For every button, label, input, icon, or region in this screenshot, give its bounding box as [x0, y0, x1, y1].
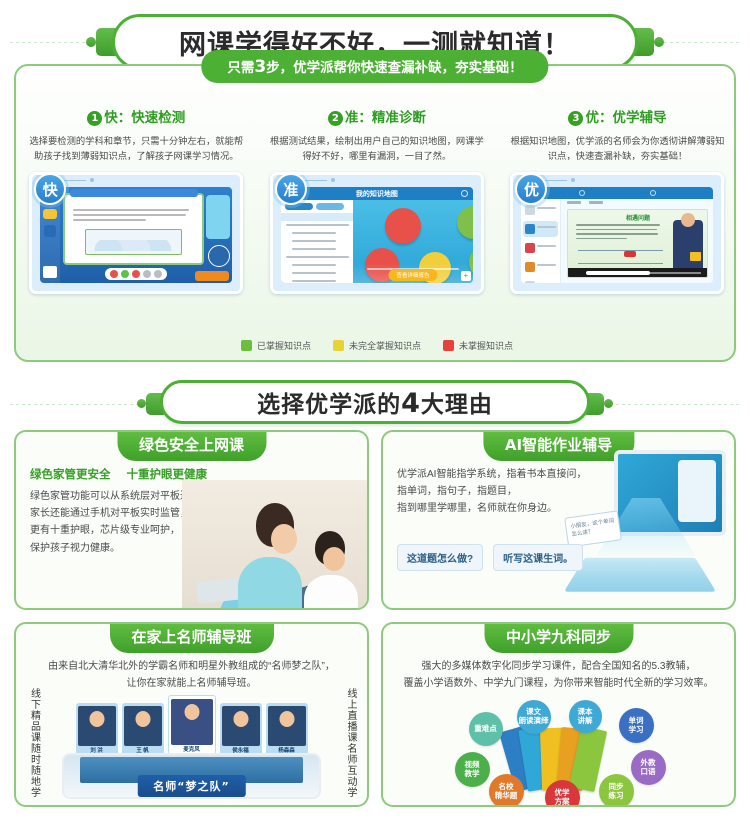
- video-player[interactable]: 相遇问题: [567, 209, 708, 278]
- step-number-2: 2: [328, 111, 343, 126]
- three-step-section: 只需3步，优学派帮你快速查漏补缺，夯实基础！ 1快：快速检测 选择要检测的学科和…: [14, 64, 736, 362]
- quiz-illustration: [85, 229, 182, 255]
- device-col-1: 快: [16, 172, 257, 294]
- step-item-3: 3优：优学辅导 根据知识地图，优学派的名师会为你透彻讲解薄弱知识点，快速查漏补缺…: [497, 106, 738, 165]
- legend-item-unmastered: 未掌握知识点: [443, 339, 513, 352]
- quiz-screen-title: [70, 189, 198, 197]
- legend-swatch-yellow: [333, 340, 344, 351]
- card4-subject-wheel: 重难点 课文 朗读演绎 课本 讲解 单词 学习 视频 教学 外教 口语 名校 精…: [383, 700, 734, 804]
- tablet-mockup-knowledge-map: 准 我的知识地图: [270, 172, 484, 294]
- card1-sub-b: 十重护眼更健康: [127, 467, 208, 481]
- brand-tag: [690, 252, 701, 261]
- card3-line-2: 让你在家就能上名师辅导班。: [30, 675, 353, 692]
- view-report-button[interactable]: 查看详细报告: [388, 269, 437, 281]
- subject-bubble[interactable]: 外教 口语: [631, 750, 666, 785]
- subject-bubble[interactable]: 视频 教学: [455, 752, 490, 787]
- legend-label-partial: 未完全掌握知识点: [349, 339, 421, 352]
- card4-title: 中小学九科同步: [484, 622, 633, 653]
- knowledge-map-screen: 我的知识地图: [281, 187, 473, 283]
- card4-line-2: 覆盖小学语数外、中学九门课程，为你带来智能时代全新的学习效率。: [397, 675, 720, 692]
- banner-dot-right: [654, 37, 664, 47]
- quiz-question-text: [73, 209, 194, 224]
- subtitle-post: 步，优学派帮你快速查漏补缺，夯实基础！: [266, 60, 523, 76]
- map-bubble[interactable]: [385, 208, 421, 244]
- teacher-avatar: [78, 706, 116, 746]
- projected-keyboard: [564, 558, 716, 592]
- card4-body: 强大的多媒体数字化同步学习课件，配合全国知名的5.3教辅， 覆盖小学语数外、中学…: [397, 658, 720, 692]
- card3-title: 在家上名师辅导班: [109, 622, 273, 653]
- card1-title: 绿色安全上网课: [117, 430, 266, 461]
- chapter-sidebar: [281, 200, 353, 283]
- reasons-title: 选择优学派的4大理由: [257, 385, 493, 419]
- card3-phone-illustration: 刘 洪 北大学霸名师 王 帆 北大英语精英名师 麦克风 英语外教: [62, 695, 321, 799]
- reasons-title-pill: 选择优学派的4大理由: [160, 380, 590, 424]
- step-title-3: 优：优学辅导: [585, 110, 666, 126]
- quiz-screen: [40, 187, 232, 283]
- dream-team-ribbon: 名师“梦之队”: [137, 775, 245, 797]
- card1-sub-a: 绿色家管更安全: [30, 467, 111, 481]
- step-item-1: 1快：快速检测 选择要检测的学科和章节，只需十分钟左右，就能帮助孩子找到薄弱知识…: [16, 106, 257, 165]
- reason-card-ai-homework: AI智能作业辅导 优学派AI智能指学系统，指着书本直接问， 指单词，指句子，指题…: [381, 430, 736, 610]
- card4-line-1: 强大的多媒体数字化同步学习课件，配合全国知名的5.3教辅，: [397, 658, 720, 675]
- subject-bubble[interactable]: 课本 讲解: [569, 700, 602, 733]
- knowledge-legend: 已掌握知识点 未完全掌握知识点 未掌握知识点: [16, 339, 738, 352]
- map-bubble[interactable]: [457, 206, 473, 239]
- card3-body: 由来自北大清华北外的学霸名师和明星外教组成的“名师梦之队”， 让你在家就能上名师…: [30, 658, 353, 692]
- step-heading-1: 1快：快速检测: [26, 106, 247, 126]
- nav-item[interactable]: [523, 278, 558, 283]
- step-desc-3: 根据知识地图，优学派的名师会为你透彻讲解薄弱知识点，快速查漏补缺，夯实基础！: [507, 134, 728, 165]
- step-title-1: 快：快速检测: [104, 110, 185, 126]
- sidebar-active-row: [281, 213, 353, 221]
- subtitle-pill: 只需3步，优学派帮你快速查漏补缺，夯实基础！: [201, 50, 548, 83]
- coin-icon: [43, 209, 57, 219]
- lesson-diagram: [578, 250, 663, 264]
- subtitle-pre: 只需: [227, 60, 254, 76]
- teacher-avatar: [222, 706, 260, 746]
- lesson-title: 相遇问题: [626, 213, 650, 222]
- device-col-3: 优 相遇问题: [497, 172, 738, 294]
- step-item-2: 2准：精准诊断 根据测试结果，绘制出用户自己的知识地图，网课学得好不好，哪里有漏…: [257, 106, 498, 165]
- plus-icon[interactable]: +: [461, 271, 471, 281]
- legend-label-mastered: 已掌握知识点: [257, 339, 311, 352]
- legend-label-unmastered: 未掌握知识点: [459, 339, 513, 352]
- device-mockups: 快: [16, 172, 738, 294]
- card2-device-illustration: 小朋友，这个单词怎么读？: [570, 442, 730, 602]
- step-title-2: 准：精准诊断: [345, 110, 426, 126]
- nav-item-active[interactable]: [523, 221, 558, 237]
- legend-item-partial: 未完全掌握知识点: [333, 339, 421, 352]
- legend-swatch-red: [443, 340, 454, 351]
- teacher-avatar: [124, 706, 162, 746]
- nav-item[interactable]: [523, 259, 558, 275]
- lesson-text: [576, 224, 667, 242]
- video-lesson-screen: 相遇问题: [521, 187, 713, 283]
- banner2-dot-right: [604, 399, 613, 408]
- card1-photo-mother-child: [182, 480, 367, 608]
- subject-bubble[interactable]: 重难点: [469, 712, 503, 746]
- quiz-card: [63, 193, 204, 265]
- reason-card-nine-subjects: 中小学九科同步 强大的多媒体数字化同步学习课件，配合全国知名的5.3教辅， 覆盖…: [381, 622, 736, 807]
- product-page: 网课学得好不好，一测就知道！ 只需3步，优学派帮你快速查漏补缺，夯实基础！ 1快…: [0, 0, 750, 829]
- card2-speech-bubbles: 这道题怎么做? 听写这课生词。: [397, 544, 583, 571]
- step-desc-2: 根据测试结果，绘制出用户自己的知识地图，网课学得好不好，哪里有漏洞，一目了然。: [267, 134, 488, 165]
- reason-cards-grid: 绿色安全上网课 绿色家管更安全十重护眼更健康 绿色家管功能可以从系统层对平板进行…: [14, 430, 736, 815]
- speech-bubble-1[interactable]: 这道题怎么做?: [397, 544, 483, 571]
- quiz-progress-dots: [105, 268, 167, 280]
- chapter-list: [286, 224, 349, 283]
- step-badge-2: 准: [275, 173, 307, 205]
- device-col-2: 准 我的知识地图: [257, 172, 498, 294]
- card3-vertical-right: 线上直播课名师互动学: [343, 688, 358, 798]
- subject-bubble[interactable]: 名校 精华题: [489, 774, 524, 807]
- speech-bubble-2[interactable]: 听写这课生词。: [493, 544, 583, 571]
- tutor-button[interactable]: [208, 245, 230, 267]
- video-screen-title: [521, 187, 713, 199]
- banner2-dot-left: [137, 399, 146, 408]
- device-topbar-1: [38, 177, 234, 184]
- banner-dot-left: [86, 37, 96, 47]
- lesson-nav: [521, 199, 561, 283]
- subject-bubble[interactable]: 单词 学习: [619, 708, 654, 743]
- card4-text: 强大的多媒体数字化同步学习课件，配合全国知名的5.3教辅， 覆盖小学语数外、中学…: [397, 658, 720, 692]
- reason-card-famous-teachers: 在家上名师辅导班 由来自北大清华北外的学霸名师和明星外教组成的“名师梦之队”， …: [14, 622, 369, 807]
- video-controls[interactable]: [568, 268, 707, 277]
- subtitle-number: 3: [254, 57, 266, 77]
- subject-bubble[interactable]: 课文 朗读演绎: [517, 700, 551, 734]
- note-icon: [43, 266, 57, 278]
- step-desc-1: 选择要检测的学科和章节，只需十分钟左右，就能帮助孩子找到薄弱知识点，了解孩子网课…: [26, 134, 247, 165]
- car-icon: [624, 251, 636, 257]
- nav-item[interactable]: [523, 240, 558, 256]
- reason-card-green-safe: 绿色安全上网课 绿色家管更安全十重护眼更健康 绿色家管功能可以从系统层对平板进行…: [14, 430, 369, 610]
- device-topbar-3: [519, 177, 715, 184]
- submit-button[interactable]: [195, 271, 229, 281]
- tablet-mockup-video-lesson: 优 相遇问题: [510, 172, 724, 294]
- step-number-3: 3: [568, 111, 583, 126]
- reasons-header-banner: 选择优学派的4大理由: [0, 376, 750, 432]
- rail-icon: [44, 225, 56, 237]
- device-topbar-2: [279, 177, 475, 184]
- legend-item-mastered: 已掌握知识点: [241, 339, 311, 352]
- knowledge-bubbles: 查看详细报告 +: [353, 200, 473, 283]
- step-number-1: 1: [87, 111, 102, 126]
- step-heading-2: 2准：精准诊断: [267, 106, 488, 126]
- legend-swatch-green: [241, 340, 252, 351]
- gear-icon[interactable]: [461, 190, 468, 197]
- subject-bubble[interactable]: 优学 方案: [545, 780, 580, 807]
- card3-vertical-left: 线下精品课随时随地学: [26, 688, 41, 798]
- step-heading-3: 3优：优学辅导: [507, 106, 728, 126]
- tutor-figure: [206, 195, 230, 239]
- tablet-mockup-quiz: 快: [29, 172, 243, 294]
- teacher-avatar: [268, 706, 306, 746]
- card3-line-1: 由来自北大清华北外的学霸名师和明星外教组成的“名师梦之队”，: [30, 658, 353, 675]
- lesson-tabs[interactable]: [567, 201, 603, 204]
- steps-list: 1快：快速检测 选择要检测的学科和章节，只需十分钟左右，就能帮助孩子找到薄弱知识…: [16, 106, 738, 165]
- card3-text: 由来自北大清华北外的学霸名师和明星外教组成的“名师梦之队”， 让你在家就能上名师…: [30, 658, 353, 692]
- subject-bubble[interactable]: 同步 练习: [599, 774, 634, 807]
- knowledge-map-title: 我的知识地图: [281, 187, 473, 200]
- teacher-avatar: [171, 699, 213, 745]
